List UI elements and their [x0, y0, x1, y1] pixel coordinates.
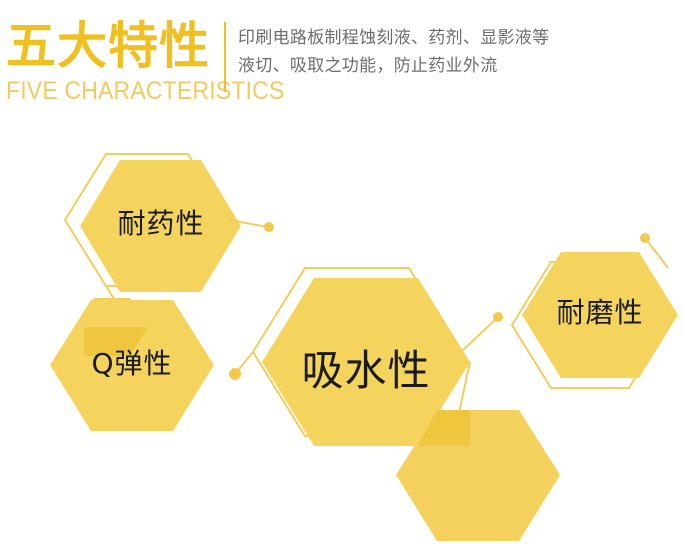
header-divider	[224, 22, 226, 92]
connector-line-wear-top-right	[645, 238, 668, 268]
hex-label-chemical-resistance: 耐药性	[80, 202, 242, 242]
feature-hexagon-diagram: 耐药性 Q弹性 吸水性 耐磨性	[0, 130, 684, 552]
page-title: 五大特性	[6, 18, 222, 74]
hex-label-water-absorption: 吸水性	[262, 337, 470, 398]
header-description-line-1: 印刷电路板制程蚀刻液、药剂、显影液等	[238, 24, 678, 52]
title-block: 五大特性 FIVE CHARACTERISTICS	[6, 18, 222, 118]
header-description-line-2: 液切、吸取之功能，防止药业外流	[238, 52, 678, 80]
connector-dot-chemical-right	[264, 222, 274, 232]
header-description: 印刷电路板制程蚀刻液、药剂、显影液等 液切、吸取之功能，防止药业外流	[238, 24, 678, 80]
header-banner: 五大特性 FIVE CHARACTERISTICS 印刷电路板制程蚀刻液、药剂、…	[0, 0, 684, 130]
page-subtitle: FIVE CHARACTERISTICS	[6, 78, 205, 104]
connector-dot-center-left	[229, 368, 241, 380]
hex-label-q-elasticity: Q弹性	[50, 342, 214, 382]
hex-label-wear-resistance: 耐磨性	[522, 291, 678, 331]
connector-dot-center-right	[493, 312, 503, 322]
